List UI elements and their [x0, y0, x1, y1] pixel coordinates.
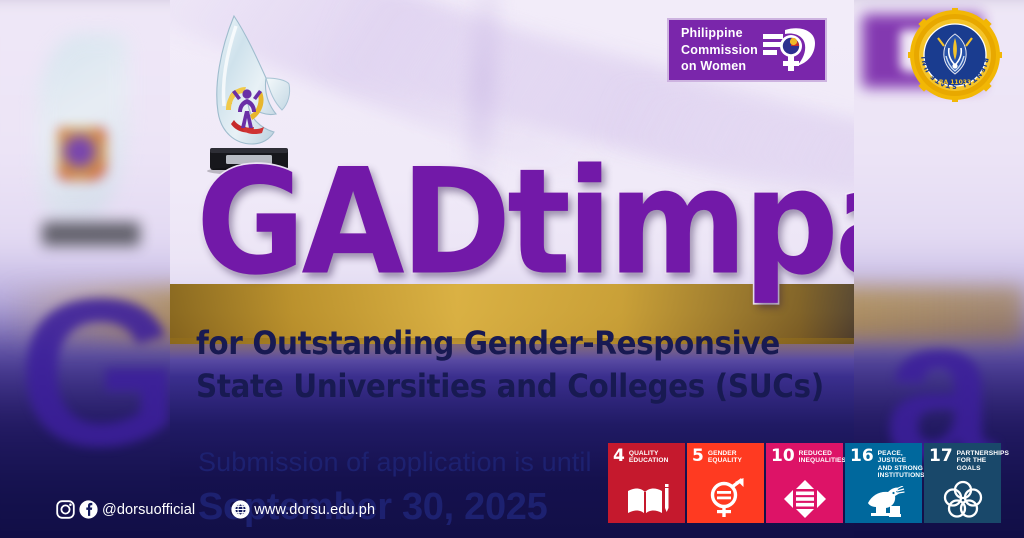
- sdg-label: REDUCED INEQUALITIES: [799, 449, 846, 465]
- footer-social-bar: @dorsuofficial www.dorsu.edu.ph: [56, 500, 375, 519]
- sdg-tile-10: 10 REDUCED INEQUALITIES: [766, 443, 843, 523]
- pcw-logo-mark-icon: [761, 25, 819, 75]
- poster-stage: G a: [0, 0, 1024, 538]
- instagram-icon[interactable]: [56, 500, 75, 519]
- sdg-label: QUALITY EDUCATION: [629, 449, 669, 465]
- sdg-number: 17: [929, 449, 953, 465]
- sdg-label: PARTNERSHIPS FOR THE GOALS: [957, 449, 1009, 472]
- dove-and-gavel-icon: [845, 478, 922, 518]
- equal-arrows-icon: [766, 478, 843, 518]
- sdg-tile-17: 17 PARTNERSHIPS FOR THE GOALS: [924, 443, 1001, 523]
- subtitle-line-1: for Outstanding Gender-Responsive: [196, 322, 846, 365]
- website-text: www.dorsu.edu.ph: [254, 502, 375, 518]
- interlocking-circles-icon: [924, 478, 1001, 518]
- sdg-number: 4: [613, 449, 625, 465]
- globe-icon[interactable]: [231, 500, 250, 519]
- page-title: GADtimpala: [196, 160, 854, 286]
- sdg-tile-5: 5 GENDER EQUALITY: [687, 443, 764, 523]
- philippine-commission-on-women-logo: Philippine Commission on Women: [667, 18, 827, 82]
- backdrop-ghost-trophy-emblem: [58, 128, 106, 180]
- sdg-number: 10: [771, 449, 795, 465]
- sdg-label: GENDER EQUALITY: [708, 449, 742, 465]
- subtitle-line-2: State Universities and Colleges (SUCs): [196, 365, 846, 408]
- sdg-number: 5: [692, 449, 704, 465]
- backdrop-ghost-letter-left: G: [18, 268, 179, 478]
- sdg-tile-4: 4 QUALITY EDUCATION: [608, 443, 685, 523]
- pcw-logo-text: Philippine Commission on Women: [681, 25, 758, 75]
- sdg-label: PEACE, JUSTICE AND STRONG INSTITUTIONS: [878, 449, 925, 480]
- social-handle-group: @dorsuofficial: [56, 500, 195, 519]
- sdg-tile-16: 16 PEACE, JUSTICE AND STRONG INSTITUTION…: [845, 443, 922, 523]
- davao-oriental-state-university-seal: DAVAO ORIENTAL STATE UNIVERSITY RA 11033: [908, 8, 1002, 102]
- svg-text:RA 11033: RA 11033: [939, 79, 971, 86]
- gender-equality-icon: [687, 478, 764, 518]
- backdrop-ghost-trophy-base: [42, 222, 140, 246]
- poster-subtitle: for Outstanding Gender-Responsive State …: [196, 322, 846, 408]
- facebook-icon[interactable]: [79, 500, 98, 519]
- sdg-number: 16: [850, 449, 874, 465]
- poster-title-block: GADtimpala: [196, 160, 854, 268]
- book-and-pencil-icon: [608, 478, 685, 518]
- website-group: www.dorsu.edu.ph: [231, 500, 375, 519]
- social-handle-text: @dorsuofficial: [102, 502, 195, 518]
- sdg-goals-strip: 4 QUALITY EDUCATION 5 GENDER EQUALITY: [608, 443, 1001, 523]
